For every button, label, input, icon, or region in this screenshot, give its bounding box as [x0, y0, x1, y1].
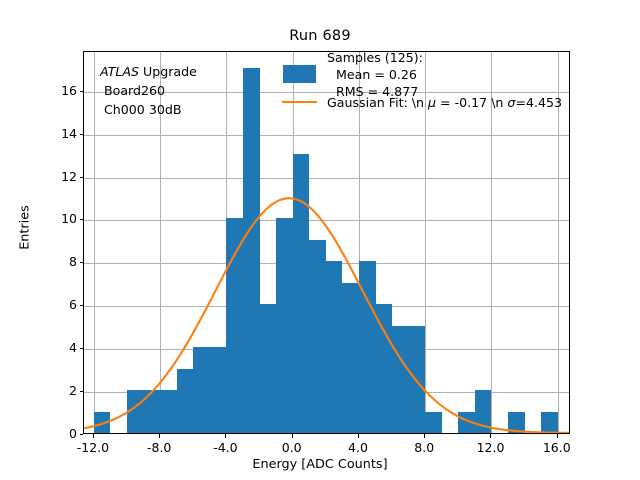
legend-mean: Mean = 0.26 — [327, 66, 423, 83]
legend-mu-symbol: μ — [428, 95, 436, 110]
x-tick-label: -8.0 — [129, 440, 189, 455]
legend-entry-gaussian-fit[interactable]: Gaussian Fit: \n μ = -0.17 \n σ=4.453 — [281, 88, 562, 116]
x-axis-label: Energy [ADC Counts] — [0, 457, 640, 472]
y-tick-mark — [80, 391, 84, 392]
legend-line-icon — [281, 89, 318, 115]
x-tick-label: 4.0 — [328, 440, 388, 455]
x-tick-mark — [557, 434, 558, 438]
x-tick-mark — [358, 434, 359, 438]
y-tick-label: 12 — [37, 169, 77, 184]
y-tick-label: 10 — [37, 211, 77, 226]
y-tick-mark — [80, 434, 84, 435]
x-tick-mark — [93, 434, 94, 438]
y-tick-label: 6 — [37, 297, 77, 312]
x-tick-label: -12.0 — [63, 440, 123, 455]
legend-fit-text: Gaussian Fit: \n μ = -0.17 \n σ=4.453 — [327, 94, 562, 111]
legend-entry-gaussian-label: Gaussian Fit: \n μ = -0.17 \n σ=4.453 — [327, 94, 562, 111]
x-tick-label: 8.0 — [394, 440, 454, 455]
y-tick-mark — [80, 177, 84, 178]
x-tick-label: 0.0 — [262, 440, 322, 455]
x-tick-label: 12.0 — [460, 440, 520, 455]
atlas-label: ATLAS — [100, 64, 139, 79]
annotation-line-3: Ch000 30dB — [100, 100, 197, 119]
legend-samples-count: Samples (125): — [327, 51, 423, 66]
legend-fit-prefix: Gaussian Fit: \n — [327, 95, 428, 110]
y-tick-label: 4 — [37, 340, 77, 355]
y-tick-mark — [80, 91, 84, 92]
x-tick-label: -4.0 — [195, 440, 255, 455]
figure-canvas: Run 689 ATLAS Upgrade Board260 Ch000 30d… — [0, 0, 640, 480]
atlas-annotation: ATLAS Upgrade Board260 Ch000 30dB — [100, 62, 197, 119]
page-title: Run 689 — [0, 28, 640, 44]
y-tick-mark — [80, 134, 84, 135]
y-tick-mark — [80, 348, 84, 349]
y-tick-mark — [80, 262, 84, 263]
legend-entry-samples[interactable]: Samples (125): Mean = 0.26 RMS = 4.877 — [281, 60, 562, 88]
annotation-line-1: ATLAS Upgrade — [100, 62, 197, 81]
upgrade-label: Upgrade — [139, 64, 197, 79]
y-tick-label: 2 — [37, 383, 77, 398]
y-tick-label: 16 — [37, 83, 77, 98]
legend[interactable]: Samples (125): Mean = 0.26 RMS = 4.877 G… — [281, 60, 562, 116]
x-tick-mark — [490, 434, 491, 438]
y-tick-mark — [80, 219, 84, 220]
x-tick-mark — [159, 434, 160, 438]
y-tick-label: 14 — [37, 126, 77, 141]
x-tick-mark — [225, 434, 226, 438]
legend-sigma-value: =4.453 — [515, 95, 562, 110]
y-axis-label: Entries — [18, 128, 33, 328]
x-tick-mark — [292, 434, 293, 438]
legend-patch-icon — [281, 61, 318, 87]
legend-mu-value: = -0.17 \n — [436, 95, 507, 110]
x-tick-label: 16.0 — [527, 440, 587, 455]
y-tick-label: 0 — [37, 426, 77, 441]
y-tick-label: 8 — [37, 254, 77, 269]
plot-area[interactable]: ATLAS Upgrade Board260 Ch000 30dB Sample… — [83, 51, 570, 434]
x-tick-mark — [424, 434, 425, 438]
annotation-line-2: Board260 — [100, 81, 197, 100]
y-tick-mark — [80, 305, 84, 306]
